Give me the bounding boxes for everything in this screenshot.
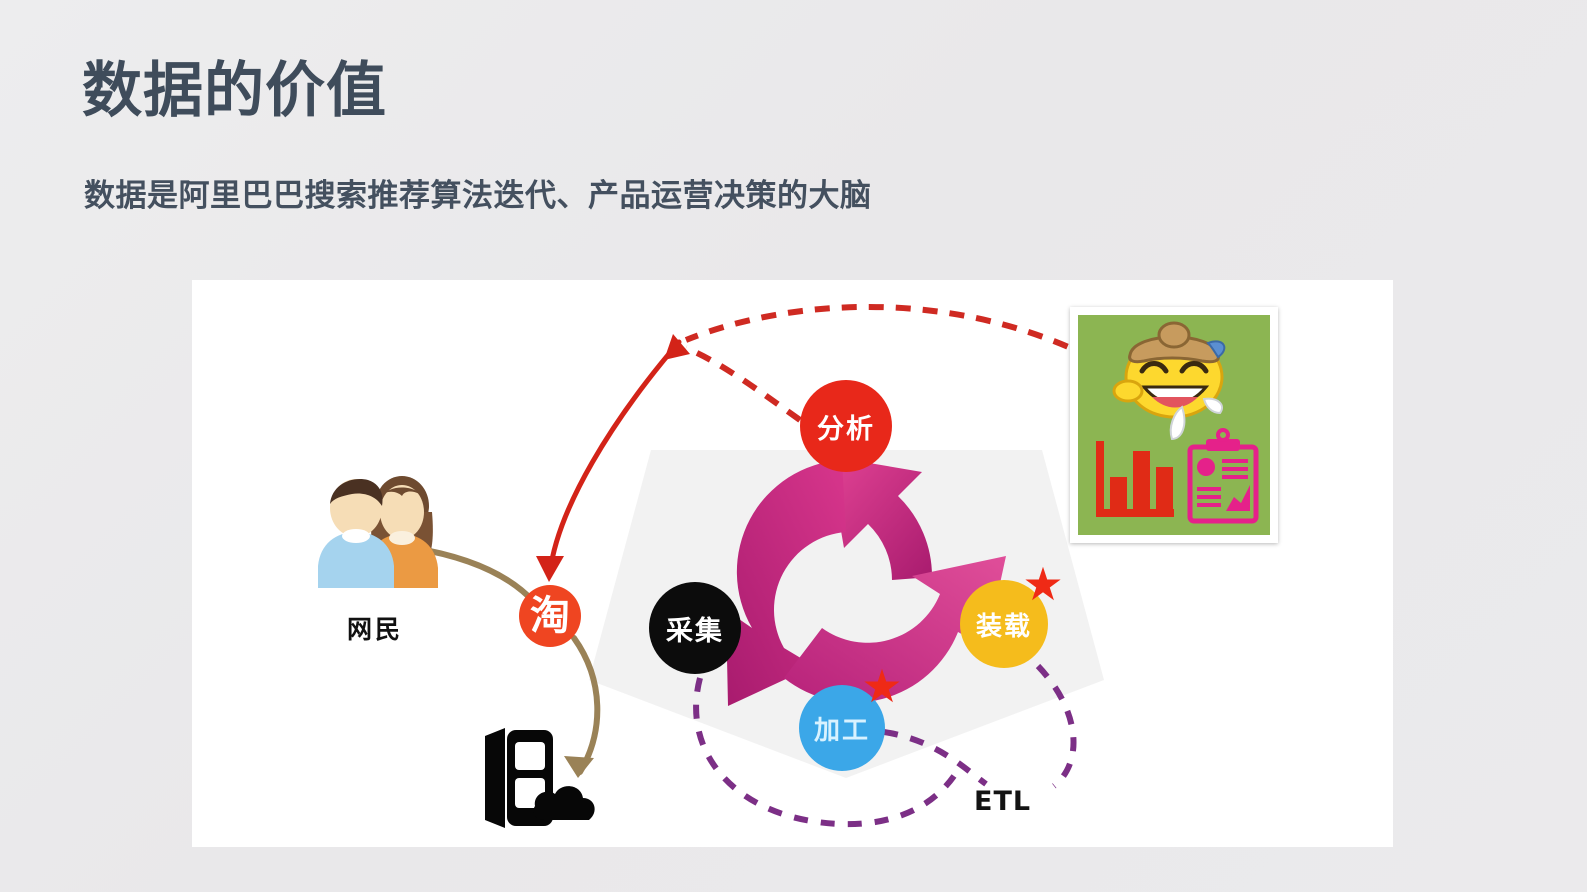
- taobao-label: 淘: [530, 596, 570, 636]
- people-icon: [302, 472, 462, 590]
- node-load-label: 装载: [976, 606, 1032, 643]
- server-cloud-icon: [475, 728, 605, 828]
- node-analyze-label: 分析: [817, 407, 875, 446]
- node-collect-label: 采集: [666, 609, 724, 648]
- node-process-label: 加工: [814, 710, 870, 747]
- database-cloud-glyph: [475, 728, 605, 828]
- etl-label: ETL: [974, 786, 1031, 817]
- analytics-card-graphic: [1078, 315, 1270, 535]
- node-analyze[interactable]: 分析: [800, 380, 892, 472]
- clipboard-report-icon: [1190, 430, 1256, 521]
- diagram-panel: 网民 淘 分析 采集 装载 ★ 加工 ★: [192, 280, 1393, 847]
- star-icon-load: ★: [1020, 561, 1066, 607]
- feedback-arrowhead-taobao: [536, 556, 564, 582]
- netizens-label: 网民: [347, 610, 403, 646]
- node-collect[interactable]: 采集: [649, 582, 741, 674]
- dashed-arrow-analyze-to-converge: [686, 348, 800, 420]
- analytics-card-inner: [1078, 315, 1270, 535]
- laughing-emoji-icon: [1114, 323, 1224, 439]
- netizens-avatar-group: [302, 472, 462, 590]
- taobao-badge: 淘: [519, 585, 581, 647]
- dashed-arrow-card-to-converge: [686, 307, 1092, 358]
- bar-chart-icon: [1096, 441, 1174, 517]
- star-icon-process: ★: [859, 663, 905, 709]
- page-title: 数据的价值: [82, 58, 387, 124]
- analytics-card: [1070, 307, 1278, 543]
- slide-root: 数据的价值 数据是阿里巴巴搜索推荐算法迭代、产品运营决策的大脑: [0, 0, 1587, 892]
- page-subtitle: 数据是阿里巴巴搜索推荐算法迭代、产品运营决策的大脑: [84, 178, 872, 215]
